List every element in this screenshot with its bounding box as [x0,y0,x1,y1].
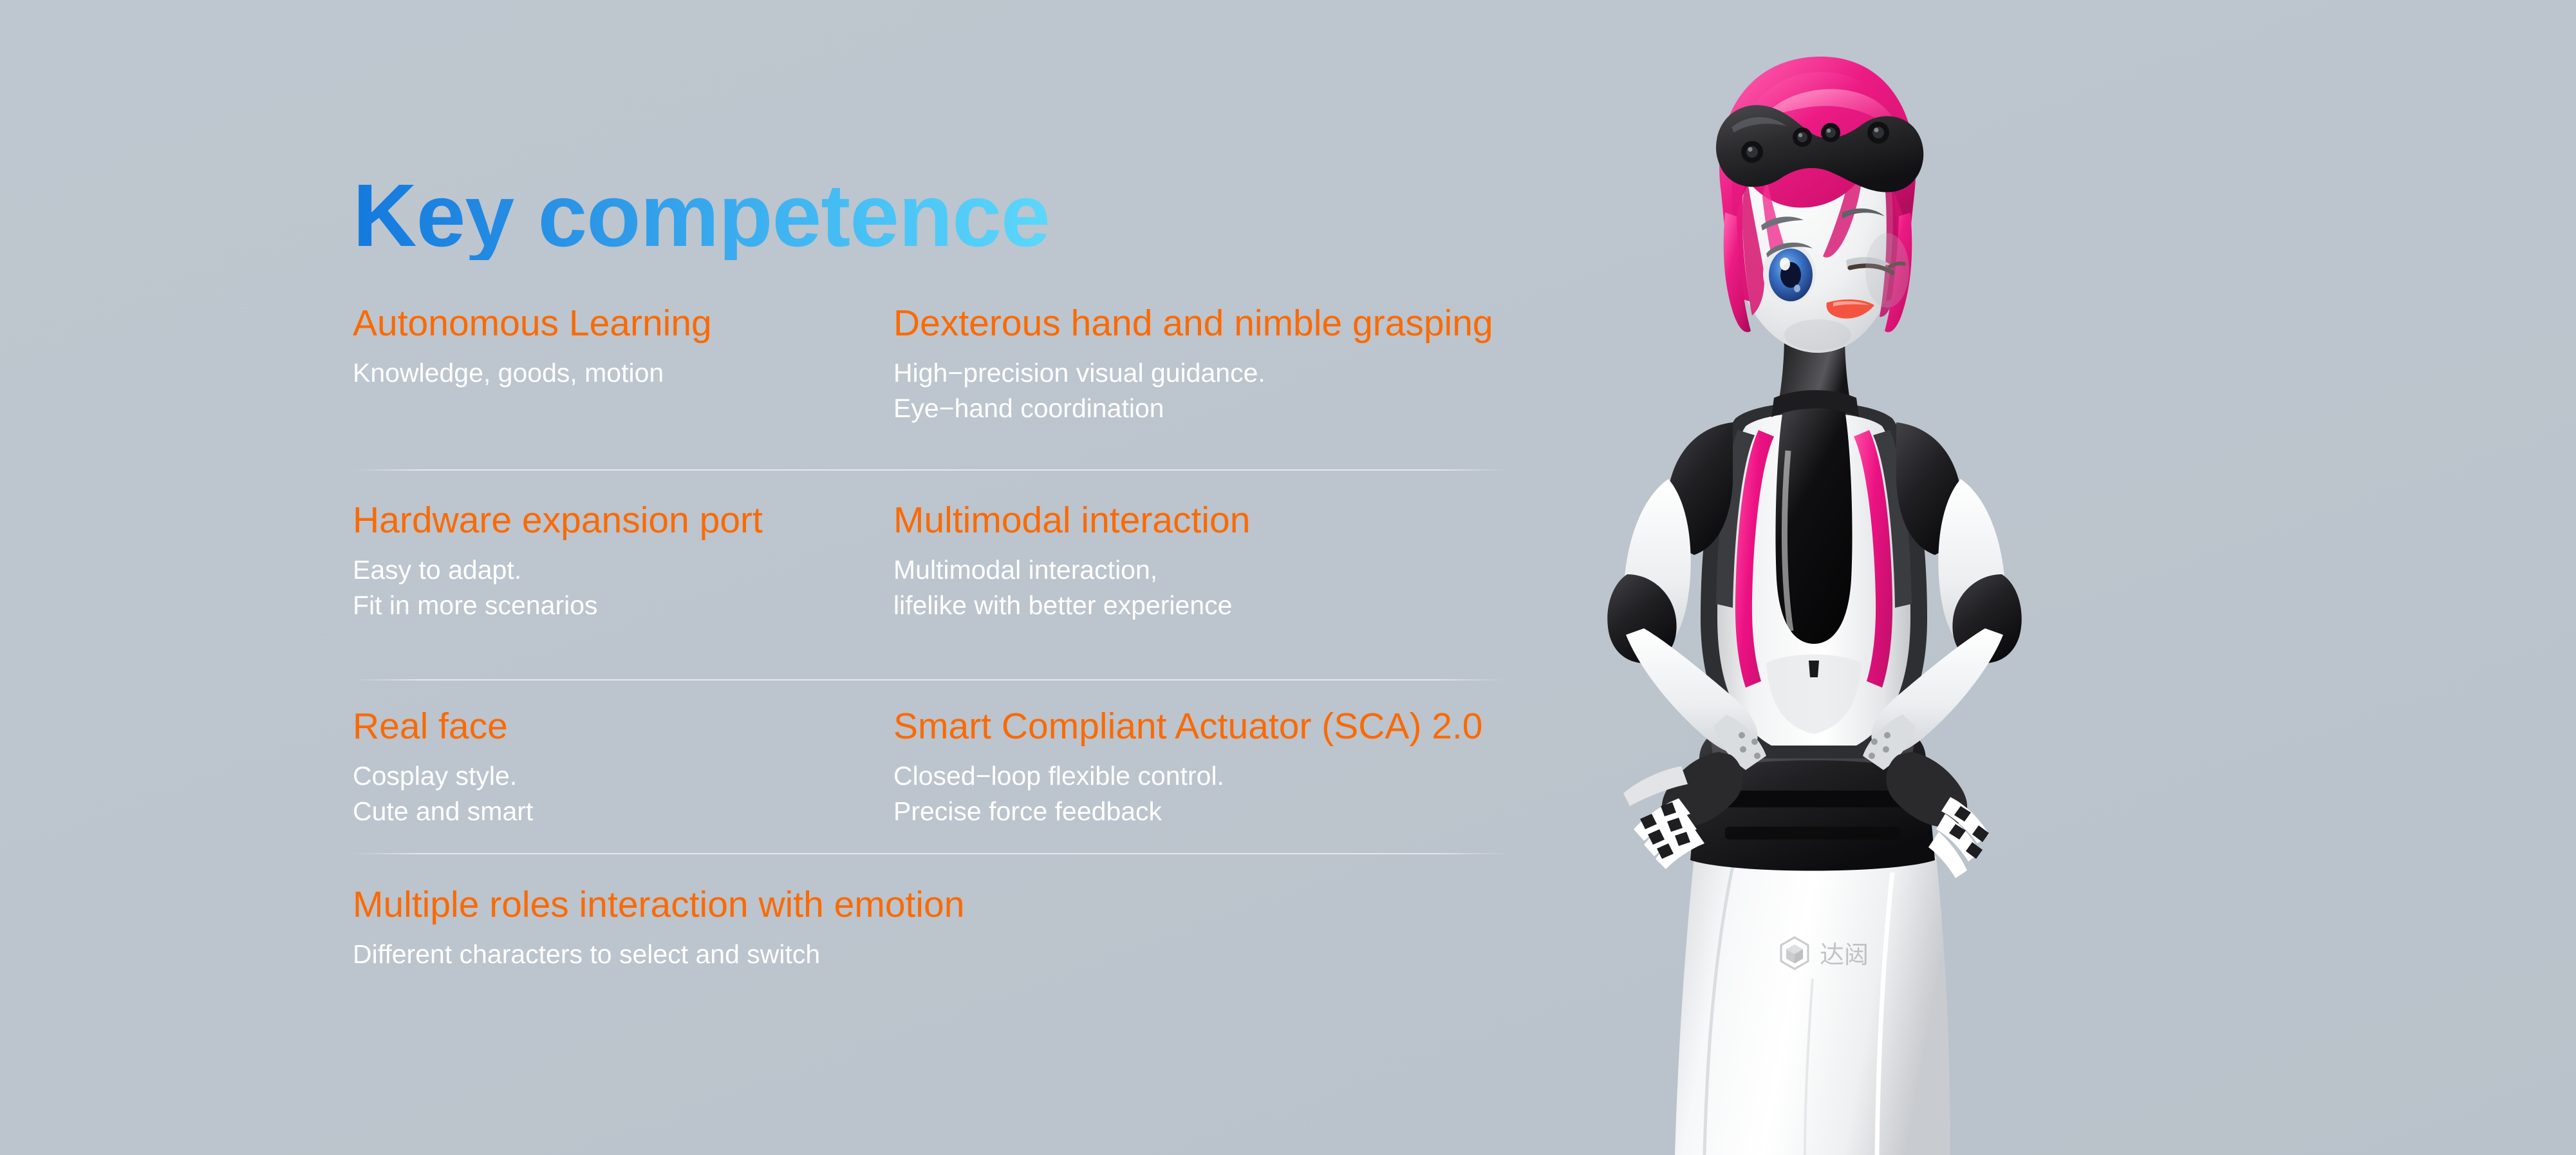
feature-row-3: Real face Cosplay style. Cute and smart … [353,707,1434,830]
divider-2 [353,679,1505,681]
feature-heading: Dexterous hand and nimble grasping [893,304,1434,344]
slide-canvas: Key competence Autonomous Learning Knowl… [0,0,2576,1155]
brand-logo-text: 达闼 [1820,941,1869,969]
torso-port [1809,661,1819,677]
face-shadow-chin [1784,319,1851,350]
feature-description: Knowledge, goods, motion [353,355,893,391]
feature-row-1: Autonomous Learning Knowledge, goods, mo… [353,304,1434,427]
feature-description: Multimodal interaction, lifelike with be… [893,552,1434,624]
feature-row-4: Multiple roles interaction with emotion … [353,885,1505,972]
feature-card-multimodal-interaction[interactable]: Multimodal interaction Multimodal intera… [893,501,1434,624]
feature-heading: Hardware expansion port [353,501,893,541]
page-title: Key competence [353,171,1050,260]
feature-heading: Real face [353,707,893,747]
feature-description: High−precision visual guidance. Eye−hand… [893,355,1434,427]
feature-heading: Smart Compliant Actuator (SCA) 2.0 [893,707,1434,747]
feature-card-dexterous-hand[interactable]: Dexterous hand and nimble grasping High−… [893,304,1434,427]
feature-description: Closed−loop flexible control. Precise fo… [893,758,1434,831]
feature-description: Cosplay style. Cute and smart [353,758,893,831]
robot-illustration: 达闼 [1506,0,2150,1155]
divider-3 [353,853,1505,854]
robot-lower-body [1675,856,1950,1155]
feature-row-2: Hardware expansion port Easy to adapt. F… [353,501,1434,624]
feature-description: Different characters to select and switc… [353,937,1505,973]
feature-heading: Multiple roles interaction with emotion [353,885,1505,925]
feature-card-real-face[interactable]: Real face Cosplay style. Cute and smart [353,707,893,830]
feature-heading: Autonomous Learning [353,304,893,344]
feature-card-multiple-roles-interaction[interactable]: Multiple roles interaction with emotion … [353,885,1505,972]
waist-slot-lower [1725,827,1900,840]
face-shadow-right [1865,233,1909,308]
text-content-panel: Key competence Autonomous Learning Knowl… [0,0,1545,1155]
feature-card-smart-compliant-actuator[interactable]: Smart Compliant Actuator (SCA) 2.0 Close… [893,707,1434,830]
feature-description: Easy to adapt. Fit in more scenarios [353,552,893,624]
divider-1 [353,469,1505,471]
waist-slot-upper [1722,791,1904,807]
feature-card-hardware-expansion-port[interactable]: Hardware expansion port Easy to adapt. F… [353,501,893,624]
feature-card-autonomous-learning[interactable]: Autonomous Learning Knowledge, goods, mo… [353,304,893,427]
feature-heading: Multimodal interaction [893,501,1434,541]
